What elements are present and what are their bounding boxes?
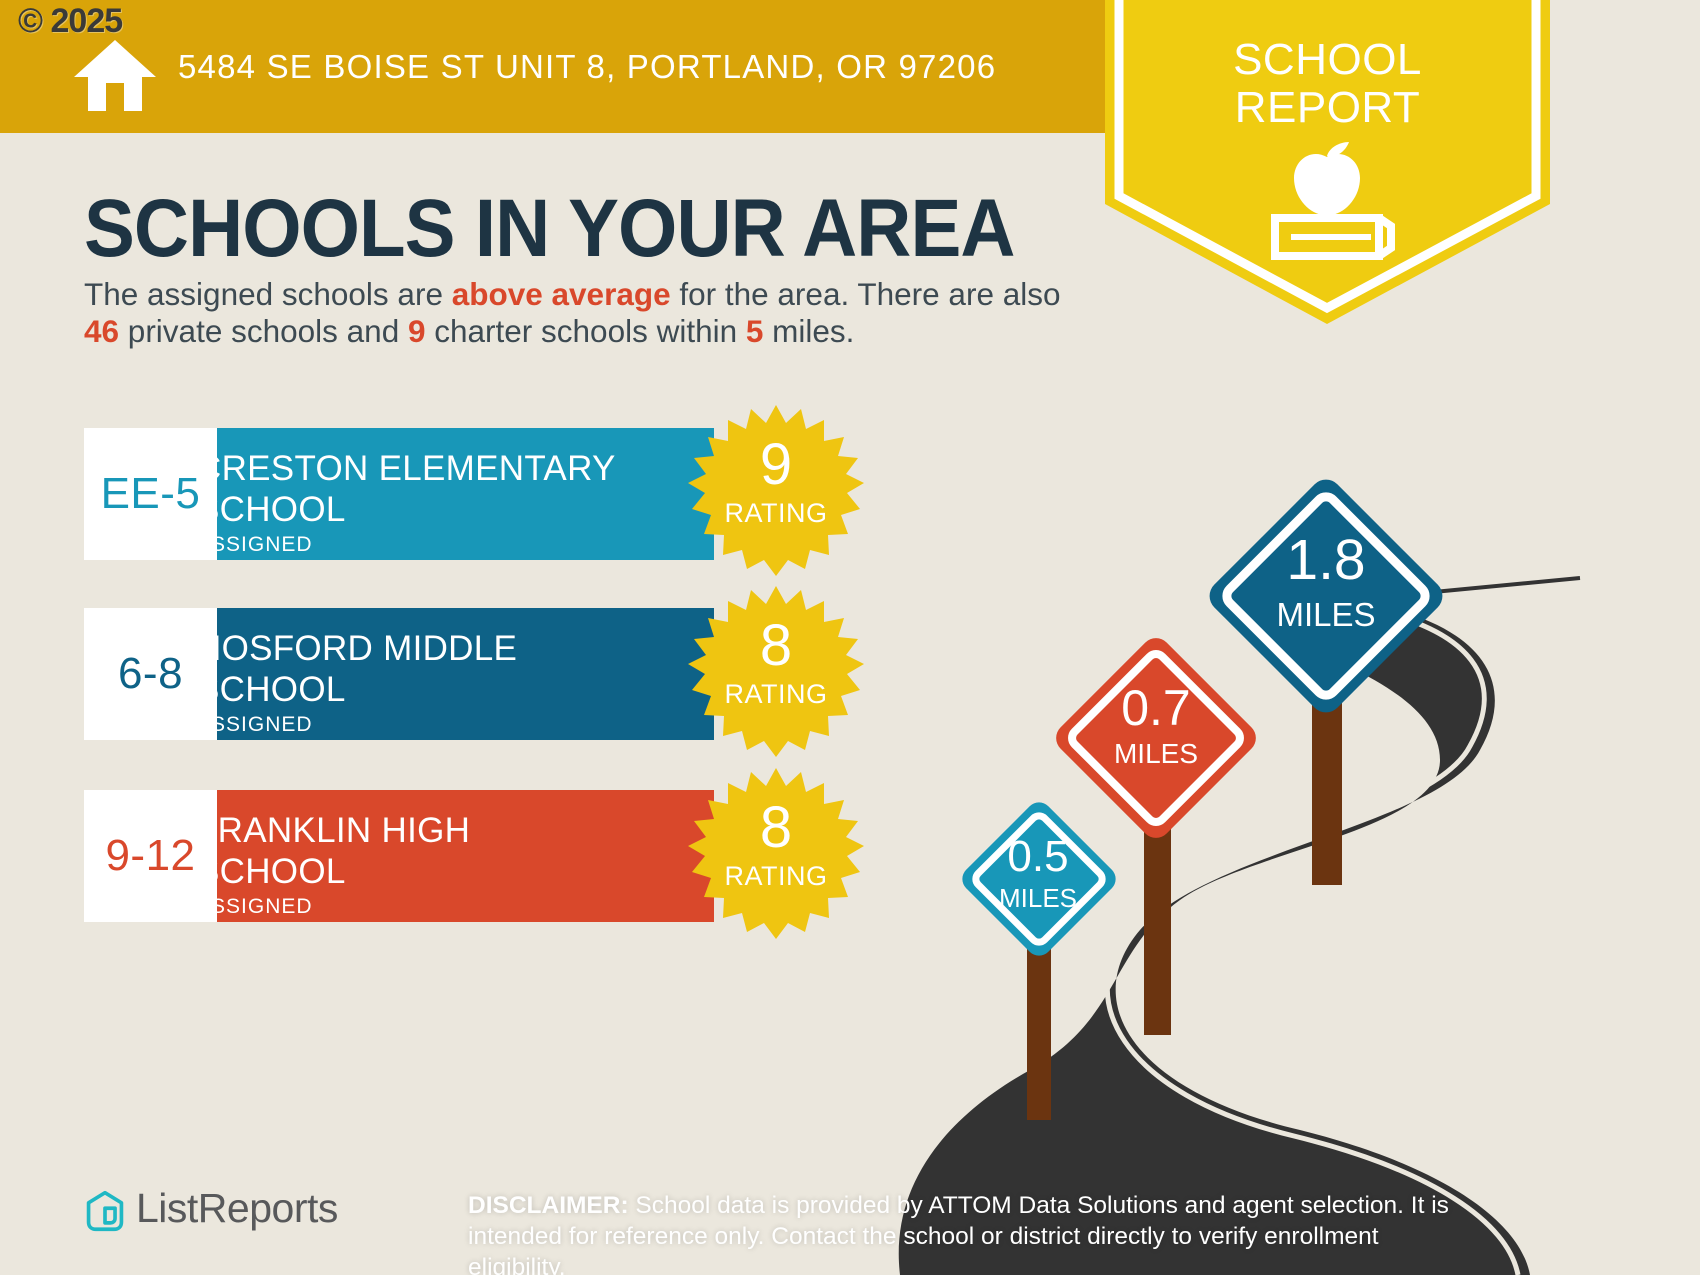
school-name: FRANKLIN HIGH SCHOOL <box>196 810 626 892</box>
rating-label: RATING <box>688 498 864 529</box>
rating-label: RATING <box>688 679 864 710</box>
distance-unit: MILES <box>1200 596 1452 634</box>
listreports-logo-text: ListReports <box>136 1185 338 1232</box>
distance-unit: MILES <box>955 883 1121 914</box>
grade-range-label: 6-8 <box>118 649 183 699</box>
school-status: ASSIGNED <box>196 533 313 557</box>
school-row[interactable]: 9-12 FRANKLIN HIGH SCHOOL ASSIGNED <box>84 790 714 922</box>
school-report-badge: SCHOOL REPORT <box>1105 0 1550 324</box>
rating-value: 8 <box>688 799 864 857</box>
badge-line-2: REPORT <box>1105 84 1550 132</box>
grade-range-label: 9-12 <box>105 831 195 881</box>
road-illustration: 1.8 MILES 0.7 MILES <box>880 430 1700 1275</box>
subtitle-highlight-rating: above average <box>452 276 671 312</box>
infographic-canvas: © 2025 5484 SE BOISE ST UNIT 8, PORTLAND… <box>0 0 1700 1275</box>
school-name: HOSFORD MIDDLE SCHOOL <box>196 628 626 710</box>
listreports-logo[interactable]: ListReports <box>84 1187 344 1241</box>
school-name: CRESTON ELEMENTARY SCHOOL <box>196 448 626 530</box>
disclaimer: DISCLAIMER: School data is provided by A… <box>468 1190 1478 1275</box>
school-row[interactable]: 6-8 HOSFORD MIDDLE SCHOOL ASSIGNED <box>84 608 714 740</box>
page-title: SCHOOLS IN YOUR AREA <box>84 186 1015 272</box>
subtitle-text-4: charter schools within <box>426 313 746 349</box>
distance-value: 0.7 <box>1048 683 1264 733</box>
school-status: ASSIGNED <box>196 713 313 737</box>
home-icon <box>72 38 158 113</box>
subtitle-highlight-private-count: 46 <box>84 313 119 349</box>
distance-value: 1.8 <box>1200 532 1452 589</box>
badge-label: SCHOOL REPORT <box>1105 36 1550 132</box>
subtitle: The assigned schools are above average f… <box>84 276 1094 350</box>
rating-value: 9 <box>688 436 864 494</box>
subtitle-text-5: miles. <box>763 313 854 349</box>
rating-label: RATING <box>688 861 864 892</box>
property-address: 5484 SE BOISE ST UNIT 8, PORTLAND, OR 97… <box>178 48 996 86</box>
distance-unit: MILES <box>1048 738 1264 770</box>
subtitle-text-1: The assigned schools are <box>84 276 452 312</box>
school-rating-badge: 9 RATING <box>688 403 864 579</box>
copyright-label: © 2025 <box>18 2 122 41</box>
distance-value: 0.5 <box>955 835 1121 879</box>
badge-line-1: SCHOOL <box>1105 36 1550 84</box>
rating-value: 8 <box>688 617 864 675</box>
subtitle-highlight-radius: 5 <box>746 313 764 349</box>
school-rating-badge: 8 RATING <box>688 584 864 760</box>
subtitle-text-2: for the area. There are also <box>671 276 1061 312</box>
school-rating-badge: 8 RATING <box>688 766 864 942</box>
school-status: ASSIGNED <box>196 895 313 919</box>
disclaimer-label: DISCLAIMER: <box>468 1192 629 1219</box>
school-row[interactable]: EE-5 CRESTON ELEMENTARY SCHOOL ASSIGNED <box>84 428 714 560</box>
distance-sign: 0.5 MILES <box>955 795 1121 961</box>
grade-range-label: EE-5 <box>101 469 201 519</box>
listreports-house-icon <box>84 1189 126 1233</box>
subtitle-highlight-charter-count: 9 <box>408 313 426 349</box>
subtitle-text-3: private schools and <box>119 313 408 349</box>
